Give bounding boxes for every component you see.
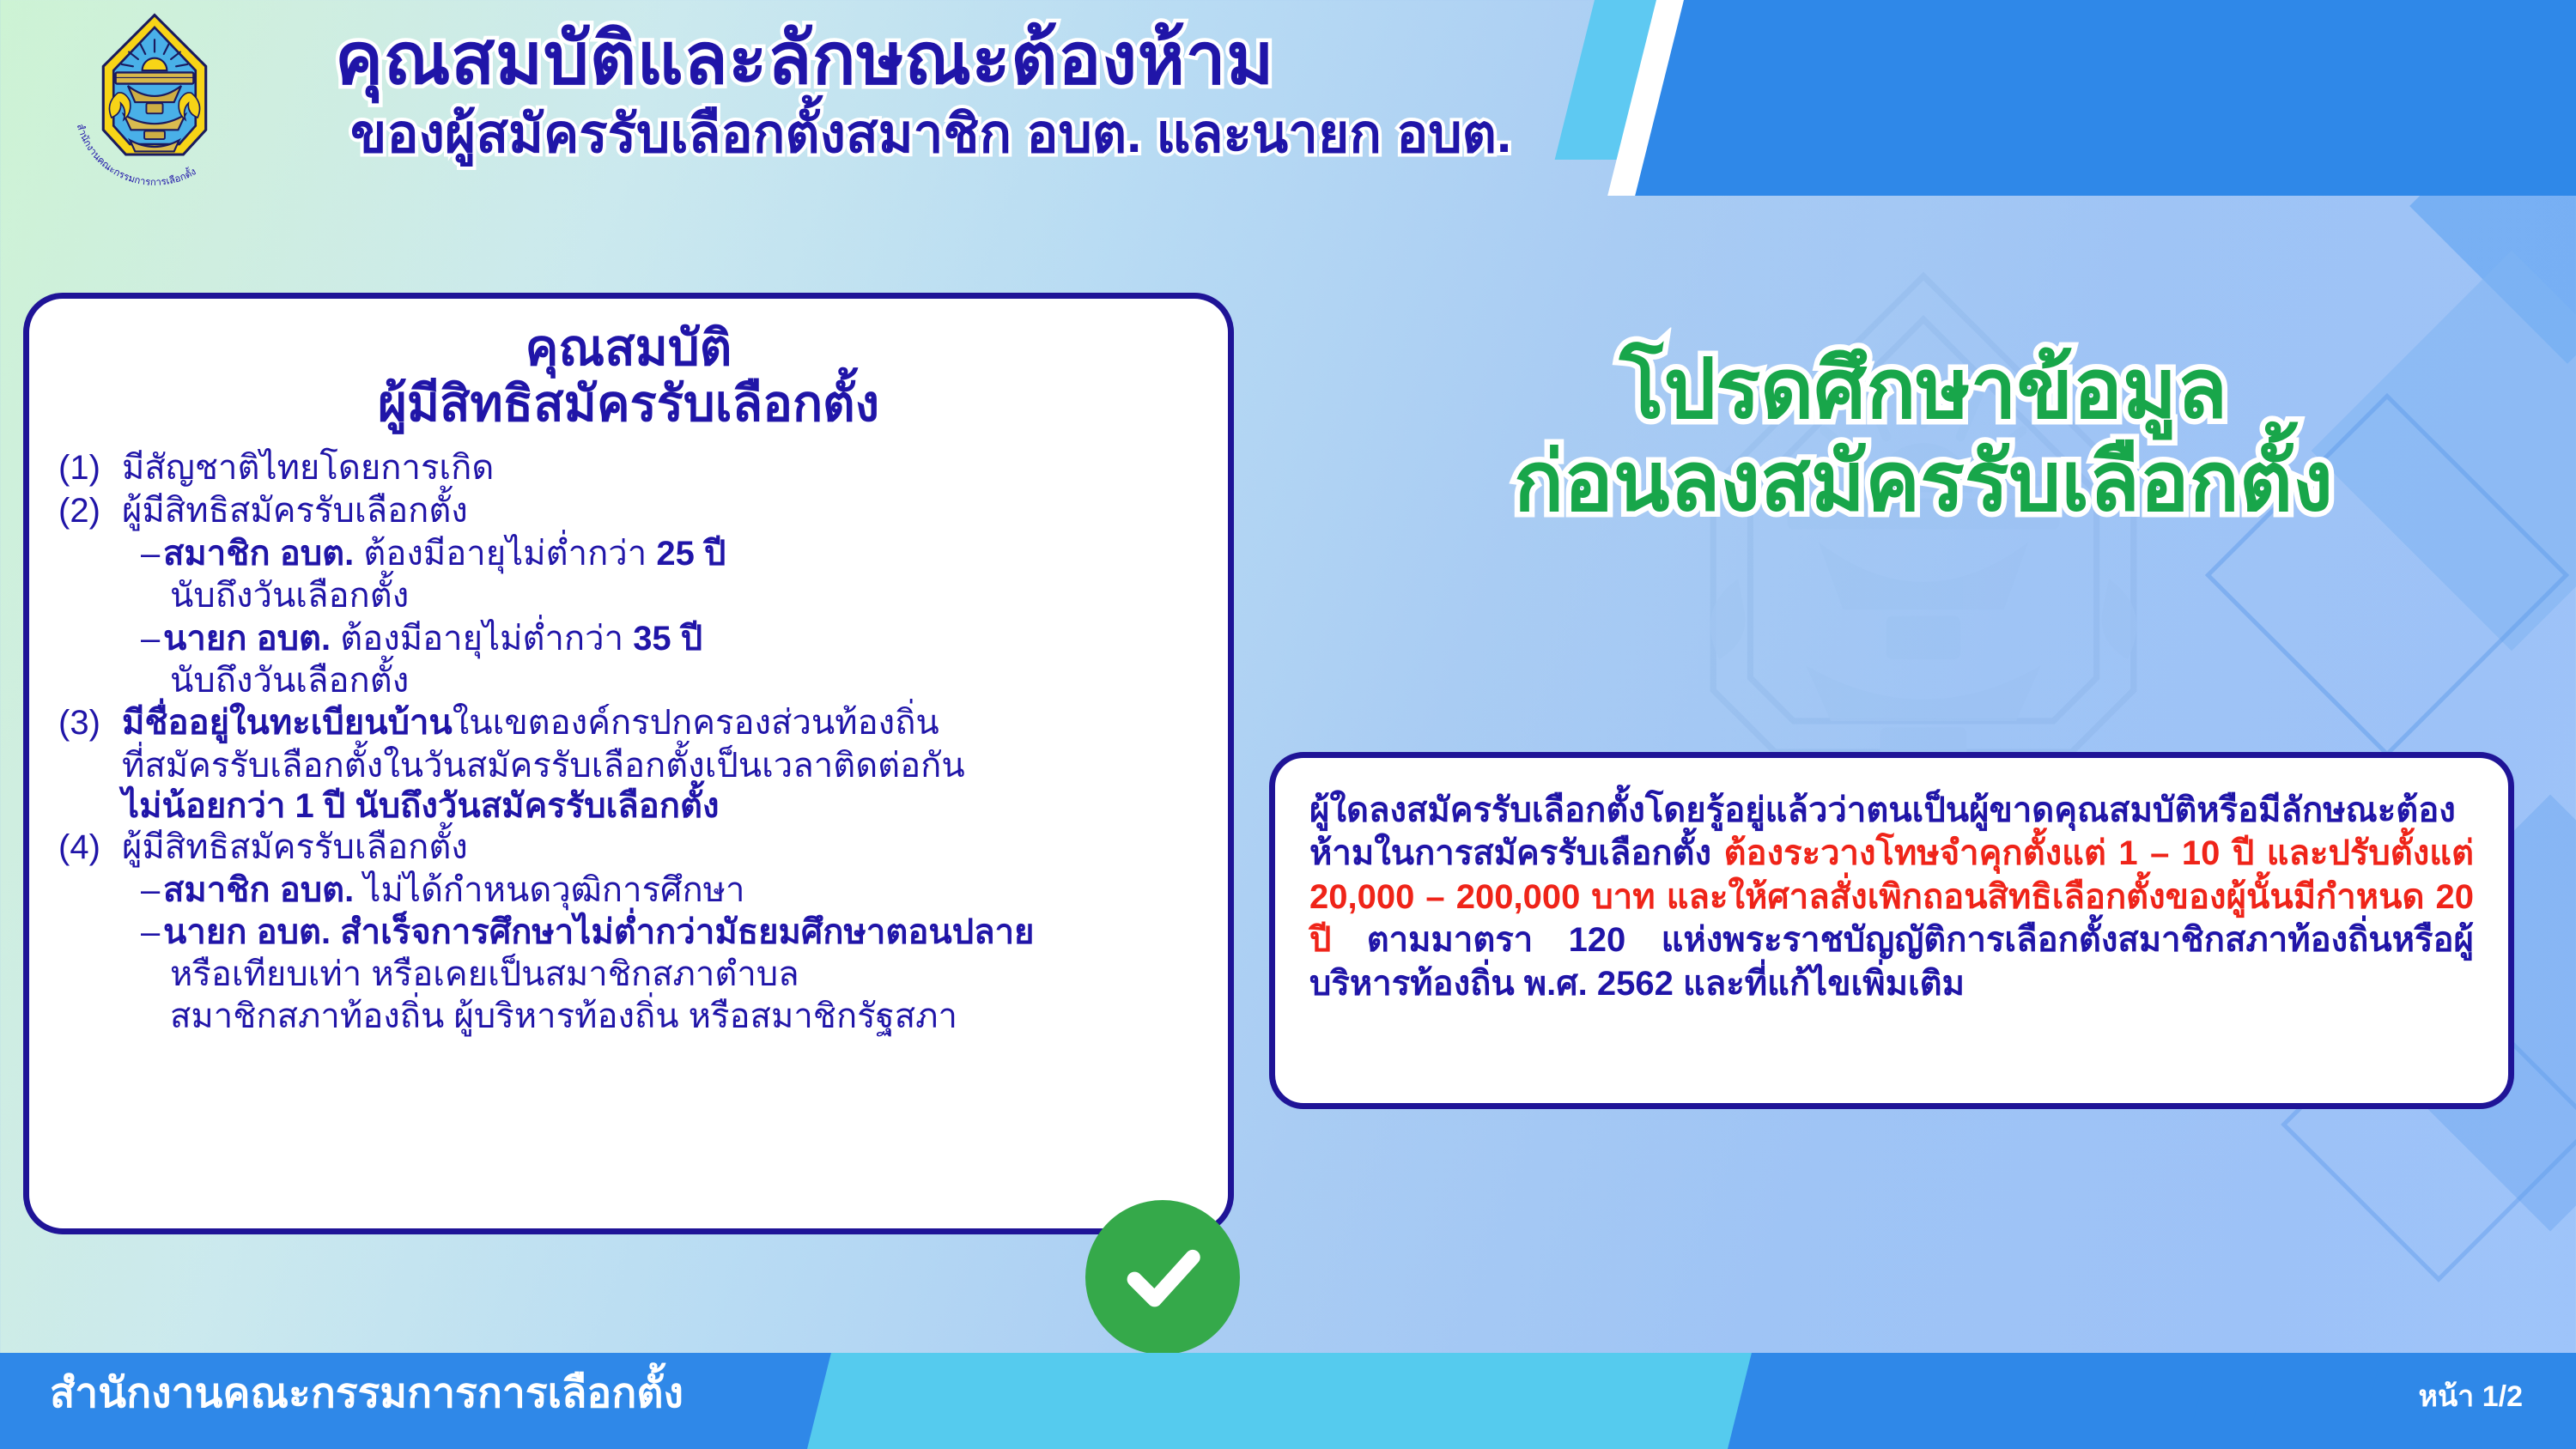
list-item-number: (3) — [58, 703, 122, 743]
subitem-age-value: 35 ปี — [633, 620, 702, 658]
page-title: คุณสมบัติและลักษณะต้องห้าม — [335, 22, 2138, 94]
dash-bullet-icon: – — [141, 619, 163, 659]
list-item: (4) ผู้มีสิทธิสมัครรับเลือกตั้ง — [58, 828, 1199, 868]
penalty-segment-law: ตามมาตรา 120 แห่งพระราชบัญญัติการเลือกตั… — [1309, 921, 2474, 1002]
list-item: (2) ผู้มีสิทธิสมัครรับเลือกตั้ง — [58, 491, 1199, 531]
subitem-continuation: นับถึงวันเลือกตั้ง — [58, 661, 1199, 701]
qualifications-heading-line2: ผู้มีสิทธิสมัครรับเลือกตั้ง — [378, 376, 879, 432]
item3-line3: ไม่น้อยกว่า 1 ปี นับถึงวันสมัครรับเลือกต… — [58, 786, 1199, 827]
qualifications-list: (1) มีสัญชาติไทยโดยการเกิด (2) ผู้มีสิทธ… — [58, 448, 1199, 1038]
list-subitem: –นายก อบต. ต้องมีอายุไม่ต่ำกว่า 35 ปี — [58, 619, 1199, 659]
page-footer: สำนักงานคณะกรรมการการเลือกตั้ง หน้า 1/2 — [0, 1353, 2576, 1449]
penalty-notice-text: ผู้ใดลงสมัครรับเลือกตั้งโดยรู้อยู่แล้วว่… — [1309, 789, 2474, 1005]
subitem-continuation: นับถึงวันเลือกตั้ง — [58, 576, 1199, 616]
dash-bullet-icon: – — [141, 870, 163, 911]
qualifications-card: คุณสมบัติ ผู้มีสิทธิสมัครรับเลือกตั้ง (1… — [23, 293, 1234, 1234]
check-circle-icon — [1085, 1200, 1240, 1355]
qualifications-heading: คุณสมบัติ ผู้มีสิทธิสมัครรับเลือกตั้ง — [58, 321, 1199, 433]
ect-emblem-logo: สำนักงานคณะกรรมการการเลือกตั้ง — [52, 7, 258, 191]
subitem-role-label: นายก อบต. — [163, 620, 331, 658]
list-subitem: –สมาชิก อบต. ไม่ได้กำหนดวุฒิการศึกษา — [58, 870, 1199, 911]
penalty-notice-card: ผู้ใดลงสมัครรับเลือกตั้งโดยรู้อยู่แล้วว่… — [1269, 752, 2514, 1109]
right-headline-line2: ก่อนลงสมัครรับเลือกตั้ง — [1288, 436, 2559, 529]
list-subitem: –นายก อบต. สำเร็จการศึกษาไม่ต่ำกว่ามัธยม… — [58, 912, 1199, 953]
right-headline: โปรดศึกษาข้อมูล ก่อนลงสมัครรับเลือกตั้ง — [1288, 343, 2559, 528]
list-item-text: ผู้มีสิทธิสมัครรับเลือกตั้ง — [122, 828, 1199, 868]
page-header: สำนักงานคณะกรรมการการเลือกตั้ง คุณสมบัติ… — [0, 0, 2576, 283]
subitem-continuation: หรือเทียบเท่า หรือเคยเป็นสมาชิกสภาตำบล — [58, 955, 1199, 995]
subitem-age-value: 25 ปี — [656, 535, 726, 573]
qualifications-heading-line1: คุณสมบัติ — [526, 320, 732, 376]
page-subtitle: ของผู้สมัครรับเลือกตั้งสมาชิก อบต. และนา… — [335, 106, 2138, 162]
list-item: (1) มีสัญชาติไทยโดยการเกิด — [58, 448, 1199, 488]
item3-rest: ในเขตองค์กรปกครองส่วนท้องถิ่น — [453, 704, 939, 742]
list-item-number: (4) — [58, 828, 122, 868]
header-titles: คุณสมบัติและลักษณะต้องห้าม ของผู้สมัครรั… — [335, 22, 2138, 162]
subitem-education-text: นายก อบต. สำเร็จการศึกษาไม่ต่ำกว่ามัธยมศ… — [163, 913, 1035, 951]
list-item-text: ผู้มีสิทธิสมัครรับเลือกตั้ง — [122, 491, 1199, 531]
dash-bullet-icon: – — [141, 534, 163, 574]
list-item-text: มีสัญชาติไทยโดยการเกิด — [122, 448, 1199, 488]
right-headline-line1: โปรดศึกษาข้อมูล — [1288, 343, 2559, 436]
list-item-text: มีชื่ออยู่ในทะเบียนบ้านในเขตองค์กรปกครอง… — [122, 703, 1199, 743]
subitem-continuation: สมาชิกสภาท้องถิ่น ผู้บริหารท้องถิ่น หรือ… — [58, 997, 1199, 1037]
dash-bullet-icon: – — [141, 912, 163, 953]
footer-organization: สำนักงานคณะกรรมการการเลือกตั้ง — [50, 1373, 683, 1415]
list-subitem: –สมาชิก อบต. ต้องมีอายุไม่ต่ำกว่า 25 ปี — [58, 534, 1199, 574]
subitem-role-label: สมาชิก อบต. — [163, 871, 354, 909]
item3-line2: ที่สมัครรับเลือกตั้งในวันสมัครรับเลือกตั… — [58, 746, 1199, 786]
list-item-number: (1) — [58, 448, 122, 488]
subitem-text: ต้องมีอายุไม่ต่ำกว่า — [354, 535, 656, 573]
subitem-text: ต้องมีอายุไม่ต่ำกว่า — [331, 620, 633, 658]
list-item: (3) มีชื่ออยู่ในทะเบียนบ้านในเขตองค์กรปก… — [58, 703, 1199, 743]
subitem-role-label: สมาชิก อบต. — [163, 535, 354, 573]
footer-page-number: หน้า 1/2 — [2419, 1382, 2523, 1411]
item3-bold-phrase: มีชื่ออยู่ในทะเบียนบ้าน — [122, 704, 453, 742]
list-item-number: (2) — [58, 491, 122, 531]
subitem-text: ไม่ได้กำหนดวุฒิการศึกษา — [354, 871, 744, 909]
